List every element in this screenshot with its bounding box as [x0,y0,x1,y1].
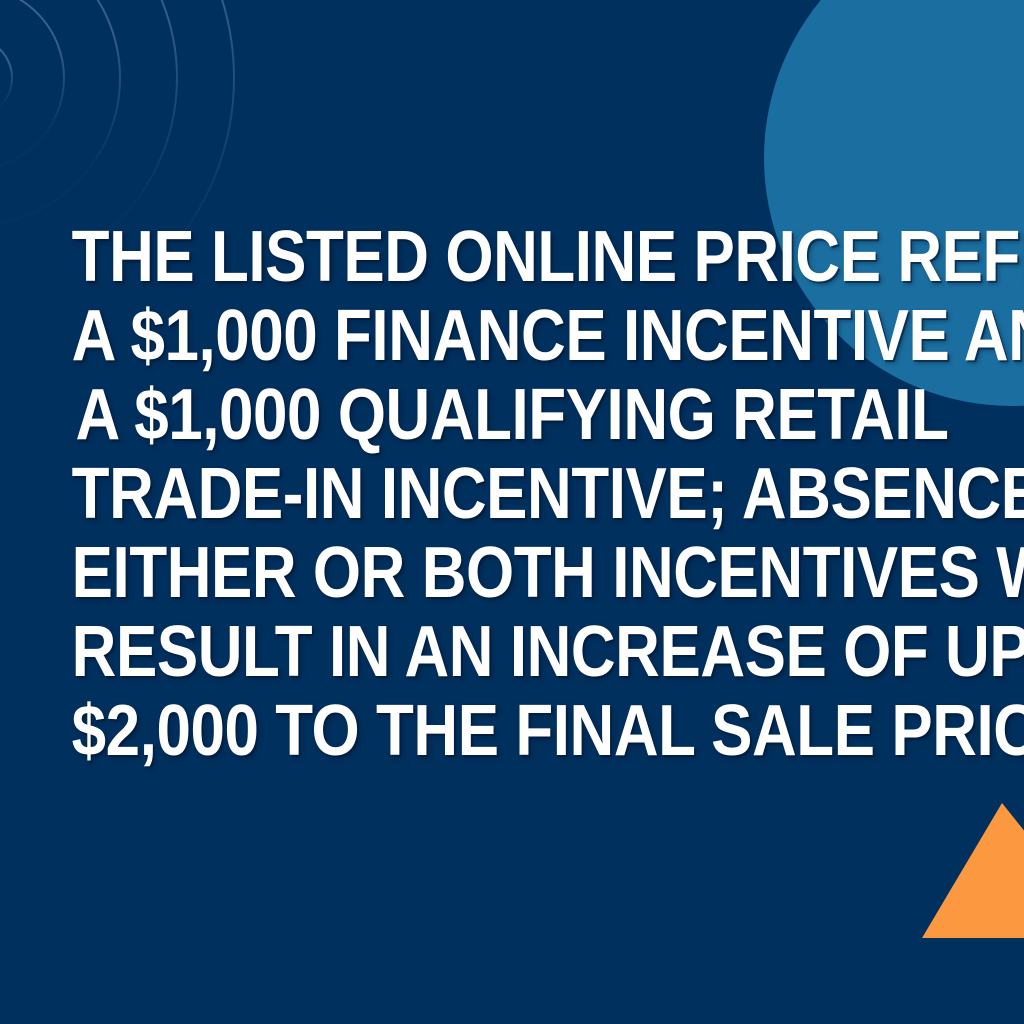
disclaimer-graphic-canvas: THE LISTED ONLINE PRICE REFLECTS A $1,00… [0,0,1024,1024]
headline-block: THE LISTED ONLINE PRICE REFLECTS A $1,00… [0,218,1024,771]
headline-line-7: $2,000 TO THE FINAL SALE PRICE. [72,692,953,771]
headline-line-3: A $1,000 QUALIFYING RETAIL [72,376,953,455]
headline-line-5: EITHER OR BOTH INCENTIVES WILL [72,534,953,613]
headline-line-4: TRADE-IN INCENTIVE; ABSENCE OF [72,455,953,534]
headline-line-6: RESULT IN AN INCREASE OF UP TO [72,613,953,692]
headline-line-1: THE LISTED ONLINE PRICE REFLECTS [72,218,953,297]
orange-triangle-shape [922,803,1024,938]
headline-line-2: A $1,000 FINANCE INCENTIVE AND [72,297,953,376]
